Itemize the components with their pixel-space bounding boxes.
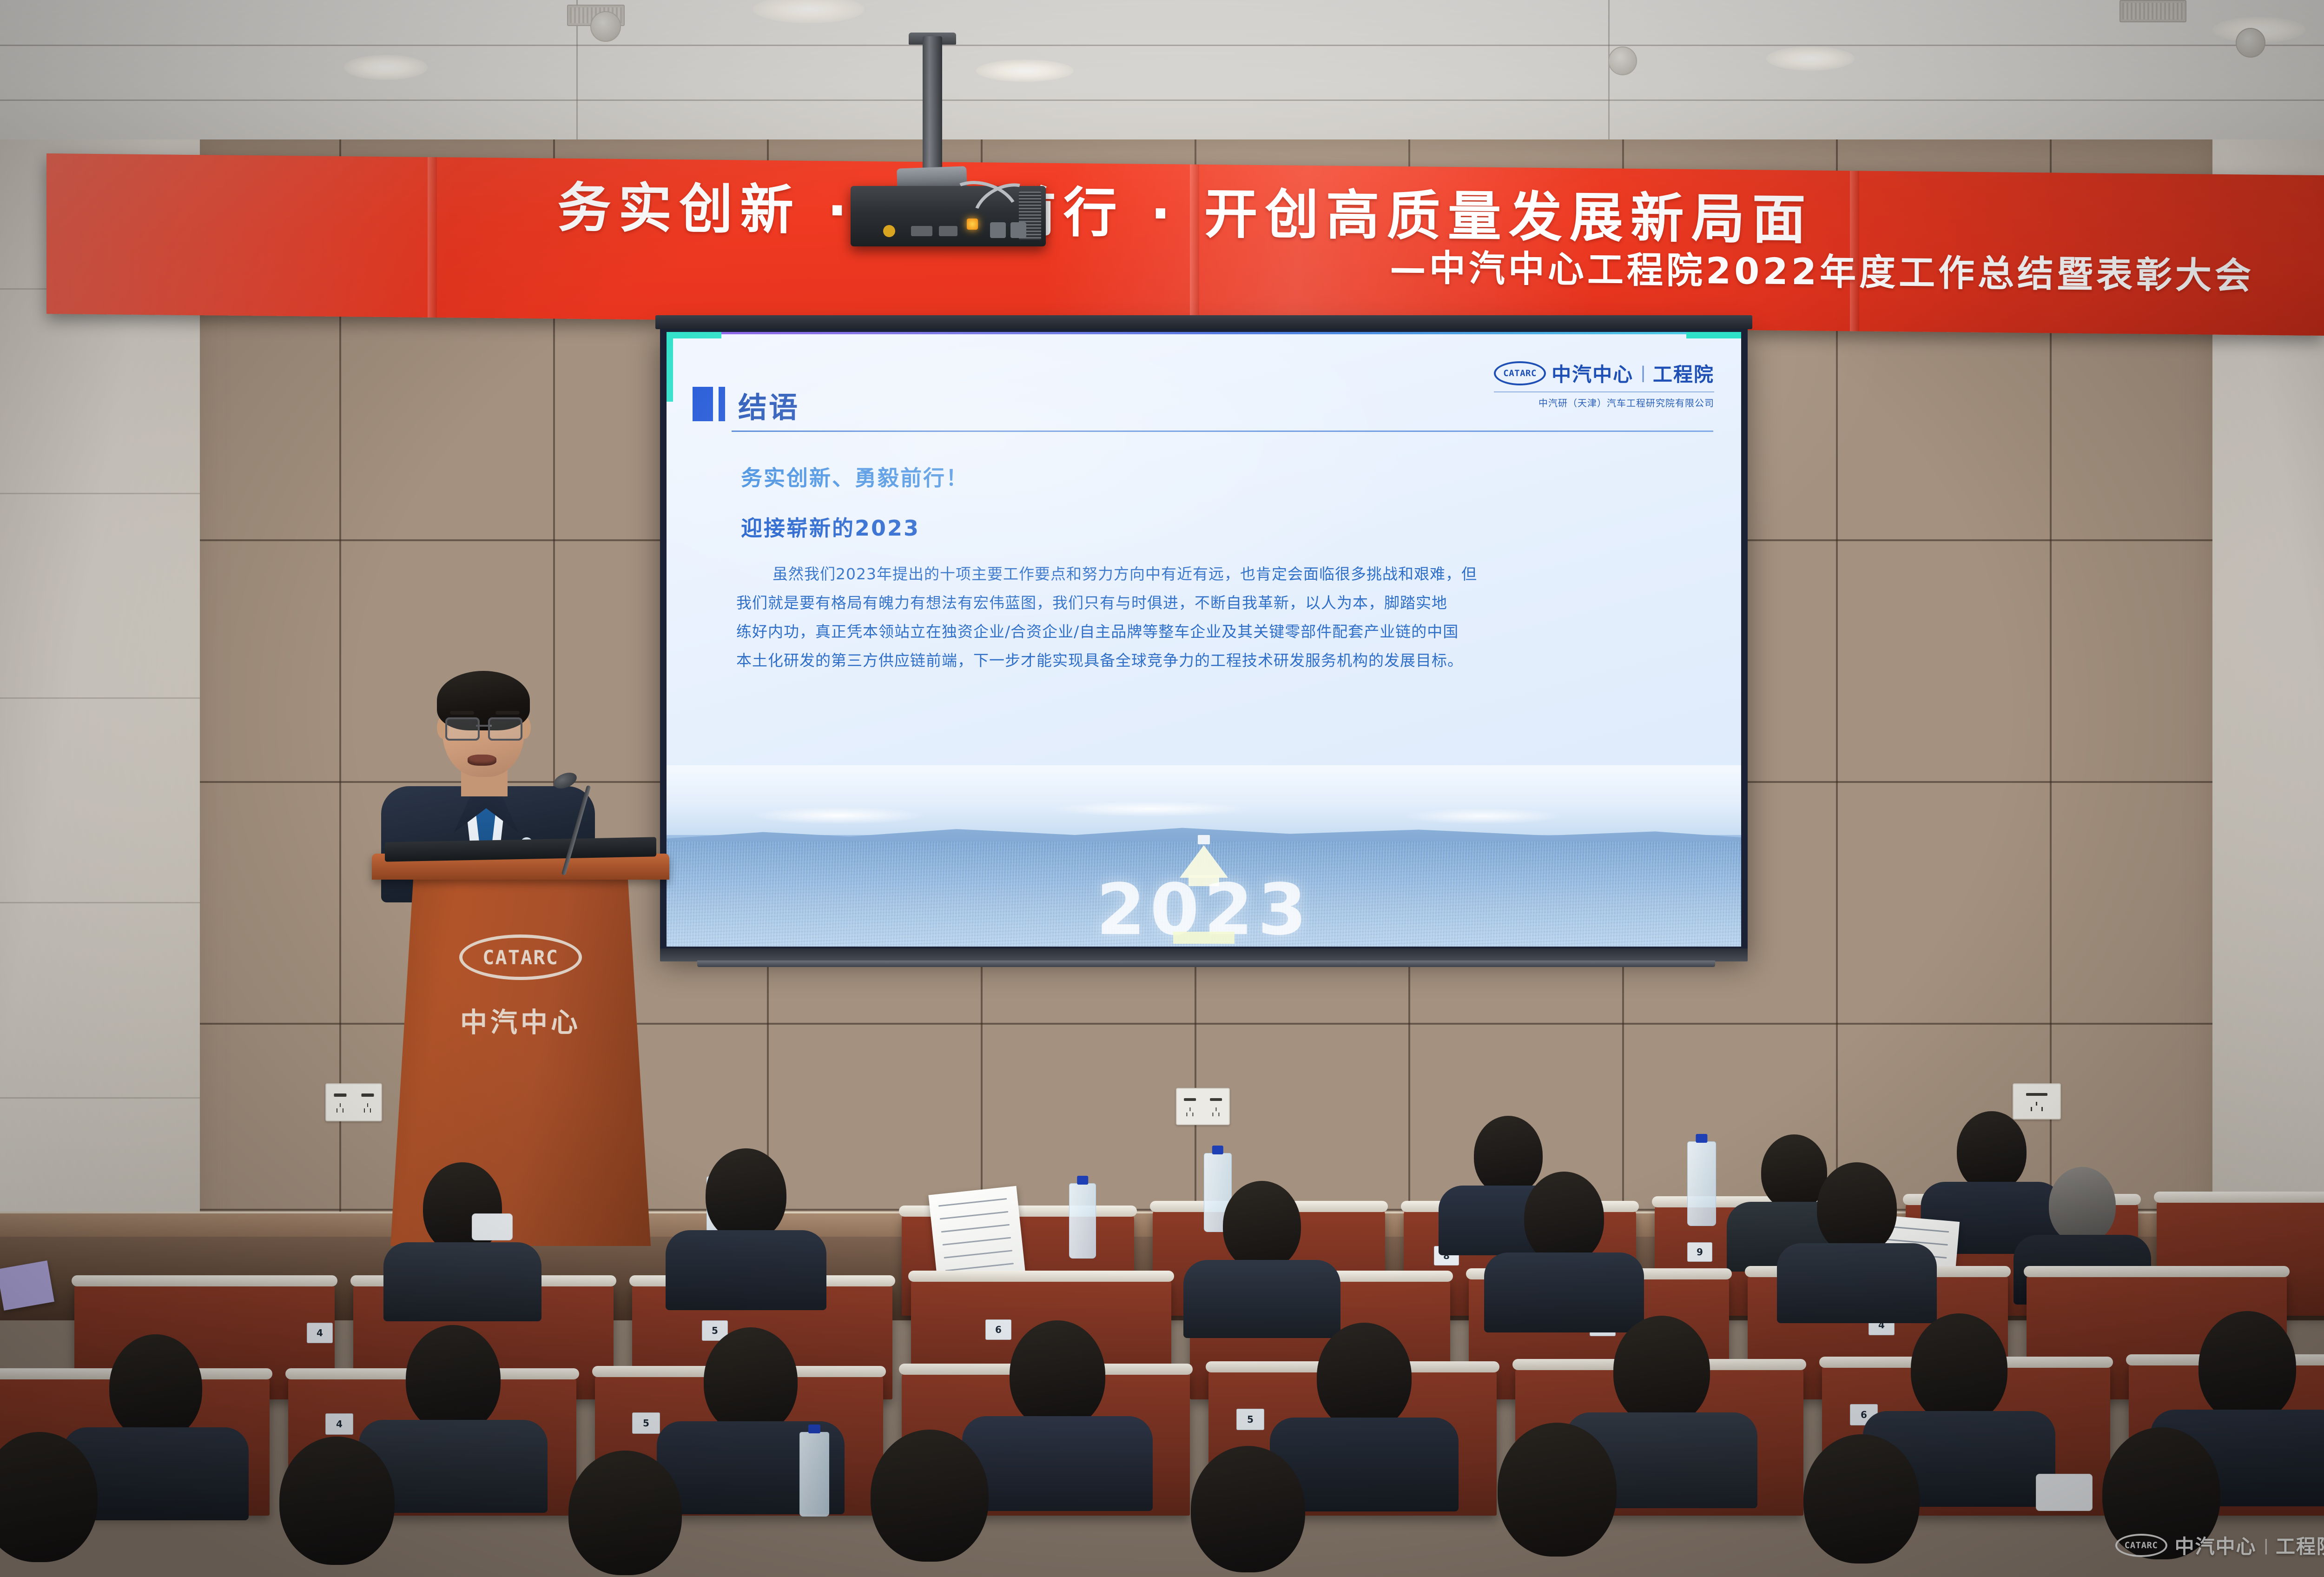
slide-body-line: 本土化研发的第三方供应链前端，下一步才能实现具备全球竞争力的工程技术研发服务机构… <box>736 646 1690 675</box>
slide-title-marker-icon <box>693 387 713 421</box>
ceiling-seam <box>1608 0 1610 158</box>
slide-title: 结语 <box>738 384 799 426</box>
water-bottle[interactable] <box>1687 1141 1716 1226</box>
audience-person <box>1785 1434 1938 1577</box>
podium-logo: CATARC 中汽中心 <box>459 934 582 1040</box>
wall-outlet[interactable] <box>325 1083 382 1121</box>
audience-person <box>1171 1446 1325 1577</box>
projector-port <box>911 226 932 236</box>
slide-heading-1: 务实创新、勇毅前行！ <box>741 461 969 492</box>
ceiling-downlight <box>976 60 1074 82</box>
ceiling-seam <box>0 45 2324 46</box>
projector-port <box>939 226 957 236</box>
slide-title-rule <box>732 431 1713 432</box>
audience-person <box>1511 1172 1618 1316</box>
slide-logo-subtitle: 中汽研（天津）汽车工程研究院有限公司 <box>1494 396 1714 409</box>
screen-bottom-rail <box>660 948 1748 961</box>
audience-person <box>548 1451 702 1577</box>
audience-person <box>1208 1181 1315 1320</box>
seat-number: 9 <box>1687 1242 1712 1262</box>
presentation-slide: 结语 CATARC 中汽中心 | 工程院 中汽研（天津）汽车工程研究院有限公司 … <box>667 332 1741 947</box>
audience-person <box>0 1432 116 1577</box>
audience-person <box>1478 1423 1636 1576</box>
seat-number: 5 <box>632 1412 660 1434</box>
watermark-unit: 工程院 <box>2276 1531 2324 1559</box>
slide-corner-accent-icon <box>667 332 673 402</box>
projection-screen: 结语 CATARC 中汽中心 | 工程院 中汽研（天津）汽车工程研究院有限公司 … <box>660 325 1748 953</box>
audience-person <box>688 1327 813 1499</box>
audience-person <box>851 1430 1009 1577</box>
projector-pole <box>923 36 942 176</box>
screen-top-rail <box>655 315 1752 329</box>
audience-person <box>693 1148 799 1292</box>
slide-heading-2: 迎接崭新的2023 <box>741 511 920 542</box>
ceiling-seam <box>0 99 2324 101</box>
conference-hall-photo: 务实创新 · 勇毅前行 · 开创高质量发展新局面 —中汽中心工程院2022年度工… <box>0 0 2324 1577</box>
audience-person <box>1803 1162 1910 1306</box>
slide-body-line: 虽然我们2023年提出的十项主要工作要点和努力方向中有近有远，也肯定会面临很多挑… <box>736 560 1690 589</box>
ceiling-downlight <box>1766 46 1855 71</box>
ceiling-speaker-icon <box>2236 28 2265 58</box>
water-bottle[interactable] <box>1069 1183 1096 1259</box>
slide-logo-unit: 工程院 <box>1653 359 1714 387</box>
slide-body-line: 练好内功，真正凭本领站立在独资企业/合资企业/自主品牌等整车企业及其关键零部件配… <box>736 617 1690 646</box>
projector-video-port <box>883 225 895 237</box>
watermark: CATARC 中汽中心 | 工程院 <box>2115 1531 2324 1559</box>
ceiling-speaker-icon <box>1608 46 1637 75</box>
ceiling-vent <box>2119 0 2186 22</box>
slide-corner-accent-icon <box>1686 332 1741 338</box>
slide-body-line: 我们就是要有格局有魄力有想法有宏伟蓝图，我们只有与时俱进，不断自我革新，以人为本… <box>736 589 1690 617</box>
ceiling <box>0 0 2324 158</box>
slide-logo-divider: | <box>1641 363 1645 383</box>
slide-logo: CATARC 中汽中心 | 工程院 中汽研（天津）汽车工程研究院有限公司 <box>1494 359 1714 409</box>
banner-subtitle: —中汽中心工程院2022年度工作总结暨表彰大会 <box>1390 239 2254 299</box>
event-banner: 务实创新 · 勇毅前行 · 开创高质量发展新局面 —中汽中心工程院2022年度工… <box>46 153 2324 336</box>
seat-number: 4 <box>307 1323 333 1343</box>
slide-title-marker-icon <box>719 387 725 421</box>
slide-road-image: 2023 <box>667 765 1741 947</box>
speaker-glasses-icon <box>445 717 522 738</box>
water-bottle[interactable] <box>799 1432 829 1517</box>
catarc-logo-icon: CATARC <box>2115 1534 2167 1557</box>
seat-number: 4 <box>325 1413 353 1435</box>
catarc-logo-icon: CATARC <box>459 934 582 980</box>
screen-bottom-bar <box>697 961 1715 967</box>
wall-outlet[interactable] <box>1176 1088 1230 1125</box>
face-mask-icon <box>472 1213 513 1240</box>
audience-person <box>995 1320 1120 1497</box>
slide-corner-accent-icon <box>667 332 721 338</box>
seat-number: 5 <box>1236 1409 1264 1430</box>
watermark-divider: | <box>2264 1536 2268 1555</box>
ceiling-downlight <box>344 55 428 80</box>
podium-logo-name: 中汽中心 <box>459 1001 582 1040</box>
face-mask-icon <box>2036 1474 2093 1511</box>
name-card[interactable] <box>0 1260 54 1311</box>
audience-person <box>260 1437 414 1577</box>
audience-person <box>1943 1111 2040 1237</box>
slide-logo-name: 中汽中心 <box>1552 359 1633 387</box>
catarc-logo-icon: CATARC <box>1494 361 1546 385</box>
slide-body-text: 虽然我们2023年提出的十项主要工作要点和努力方向中有近有远，也肯定会面临很多挑… <box>736 560 1690 675</box>
watermark-name: 中汽中心 <box>2175 1531 2257 1559</box>
ceiling-speaker-icon <box>590 11 621 42</box>
